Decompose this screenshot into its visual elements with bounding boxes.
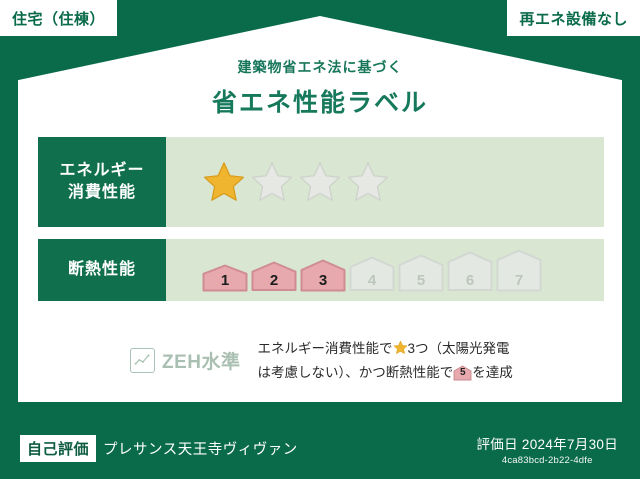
insulation-level-chip: 5 <box>398 254 444 292</box>
energy-performance-value <box>166 137 604 227</box>
self-evaluation-badge: 自己評価 <box>20 435 96 462</box>
insulation-level-chip: 7 <box>496 249 542 292</box>
zeh-desc-line2-part-a: は考慮しない）、かつ断熱性能で <box>258 365 454 380</box>
evaluation-date: 評価日 2024年7月30日 <box>476 433 618 453</box>
energy-performance-key: エネルギー 消費性能 <box>38 137 166 227</box>
zeh-badge-label: ZEH水準 <box>162 347 241 374</box>
insulation-performance-key: 断熱性能 <box>38 239 166 301</box>
energy-label-card: 住宅（住棟） 再エネ設備なし 建築物省エネ法に基づく 省エネ性能ラベル エネルギ… <box>0 0 640 479</box>
zeh-description-line2: は考慮しない）、かつ断熱性能で5を達成 <box>258 361 513 385</box>
insulation-level-chip: 1 <box>202 264 248 292</box>
inline-level-chip-value: 5 <box>453 365 472 381</box>
energy-performance-label-line2: 消費性能 <box>68 182 136 204</box>
insulation-level-chip-value: 5 <box>398 273 444 288</box>
insulation-level-chip: 2 <box>251 261 297 292</box>
renewable-energy-tag-label: 再エネ設備なし <box>519 8 628 29</box>
insulation-performance-row: 断熱性能 1234567 <box>38 239 604 301</box>
insulation-level-chip-value: 2 <box>251 273 297 288</box>
insulation-level-chip: 3 <box>300 259 346 292</box>
insulation-level-chip-value: 6 <box>447 273 493 288</box>
insulation-level-chip: 6 <box>447 251 493 292</box>
title-subtitle: 建築物省エネ法に基づく <box>0 57 640 77</box>
star-rating <box>202 160 390 204</box>
energy-performance-row: エネルギー 消費性能 <box>38 137 604 227</box>
zeh-badge: ZEH水準 <box>130 347 241 374</box>
footer-right-block: 評価日 2024年7月30日 4ca83bcd-2b22-4dfe <box>476 433 618 466</box>
zeh-desc-line1-part-a: エネルギー消費性能で <box>258 341 393 356</box>
star-empty-icon <box>346 160 390 204</box>
star-empty-icon <box>250 160 294 204</box>
renewable-energy-tag: 再エネ設備なし <box>507 0 640 36</box>
insulation-level-chip-value: 3 <box>300 273 346 288</box>
insulation-level-chip-value: 1 <box>202 273 248 288</box>
star-filled-icon <box>202 160 246 204</box>
insulation-level-scale: 1234567 <box>202 249 542 292</box>
insulation-level-chip: 4 <box>349 256 395 292</box>
building-name: プレサンス天王寺ヴィヴァン <box>103 438 298 459</box>
trend-chart-icon <box>130 348 155 373</box>
zeh-desc-line2-part-b: を達成 <box>472 365 513 380</box>
inline-star-icon <box>393 340 408 355</box>
zeh-desc-line1-part-b: 3つ（太陽光発電 <box>408 341 510 356</box>
zeh-description: エネルギー消費性能で3つ（太陽光発電 は考慮しない）、かつ断熱性能で5を達成 <box>258 337 513 384</box>
label-title-block: 建築物省エネ法に基づく 省エネ性能ラベル <box>0 57 640 119</box>
zeh-note-block: ZEH水準 エネルギー消費性能で3つ（太陽光発電 は考慮しない）、かつ断熱性能で… <box>130 337 513 384</box>
star-empty-icon <box>298 160 342 204</box>
energy-performance-label-line1: エネルギー <box>59 160 144 182</box>
building-type-tag-label: 住宅（住棟） <box>12 8 105 29</box>
insulation-performance-value: 1234567 <box>166 239 604 301</box>
insulation-performance-label: 断熱性能 <box>68 259 136 281</box>
insulation-level-chip-value: 4 <box>349 273 395 288</box>
page-title: 省エネ性能ラベル <box>0 83 640 119</box>
footer-left-block: 自己評価 プレサンス天王寺ヴィヴァン <box>20 435 298 462</box>
inline-level-chip: 5 <box>453 365 472 380</box>
zeh-description-line1: エネルギー消費性能で3つ（太陽光発電 <box>258 337 513 361</box>
building-type-tag: 住宅（住棟） <box>0 0 117 36</box>
evaluation-id: 4ca83bcd-2b22-4dfe <box>476 455 618 466</box>
insulation-level-chip-value: 7 <box>496 273 542 288</box>
